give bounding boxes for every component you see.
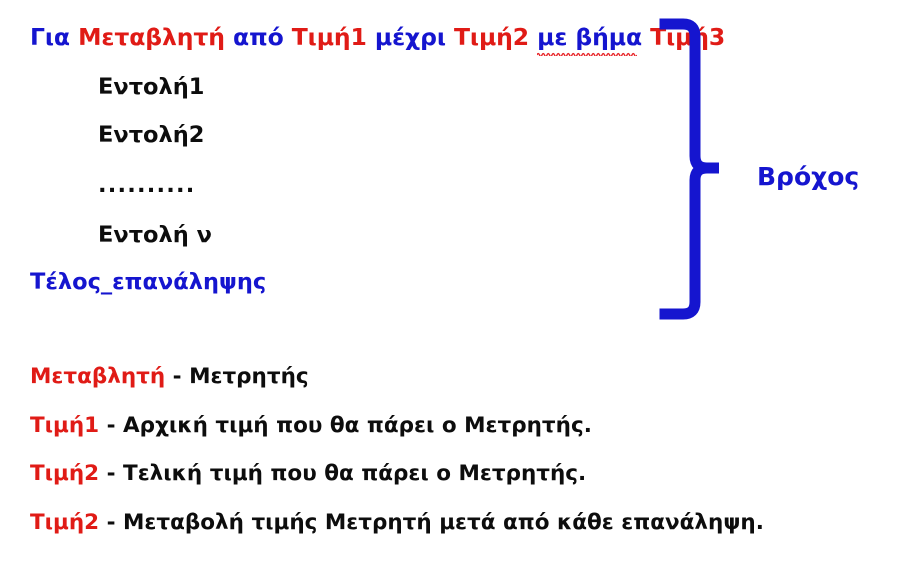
end-repeat-keyword: Τέλος_επανάληψης [30, 271, 266, 294]
for-keyword: Για [30, 23, 70, 51]
legend-row: Μεταβλητή - Μετρητής [30, 366, 830, 388]
right-curly-brace-icon [655, 14, 735, 324]
legend-description: - Αρχική τιμή που θα πάρει ο Μετρητής. [99, 413, 592, 438]
statement-2: Εντολή2 [98, 124, 204, 147]
value2-token: Τιμή2 [454, 23, 529, 51]
legend-key: Μεταβλητή [30, 364, 165, 389]
legend-description: - Τελική τιμή που θα πάρει ο Μετρητής. [99, 461, 586, 486]
code-header-line: Για Μεταβλητή από Τιμή1 μέχρι Τιμή2 με β… [30, 26, 725, 50]
loop-brace [655, 14, 735, 324]
legend-description: - Μεταβολή τιμής Μετρητή μετά από κάθε ε… [99, 510, 764, 535]
until-keyword: μέχρι [375, 23, 446, 51]
legend-row: Τιμή2 - Τελική τιμή που θα πάρει ο Μετρη… [30, 463, 830, 485]
step-keyword-spellchecked: με βήμα [537, 23, 642, 51]
variable-token: Μεταβλητή [78, 23, 225, 51]
legend-description: - Μετρητής [165, 364, 308, 389]
statement-ellipsis: .......... [98, 174, 195, 197]
statement-n: Εντολή ν [98, 224, 212, 247]
sp [70, 23, 78, 51]
legend-key: Τιμή2 [30, 510, 99, 535]
legend-key: Τιμή2 [30, 461, 99, 486]
legend-row: Τιμή2 - Μεταβολή τιμής Μετρητή μετά από … [30, 512, 830, 534]
from-keyword: από [233, 23, 284, 51]
brace-label-loop: Βρόχος [757, 164, 859, 189]
legend-row: Τιμή1 - Αρχική τιμή που θα πάρει ο Μετρη… [30, 415, 830, 437]
slide-canvas: Για Μεταβλητή από Τιμή1 μέχρι Τιμή2 με β… [0, 0, 916, 569]
legend-key: Τιμή1 [30, 413, 99, 438]
step-keyword: με βήμα [537, 23, 642, 51]
legend-block: Μεταβλητή - Μετρητής Τιμή1 - Αρχική τιμή… [30, 366, 830, 533]
statement-1: Εντολή1 [98, 76, 204, 99]
spellcheck-squiggle-icon [537, 52, 637, 56]
value1-token: Τιμή1 [292, 23, 367, 51]
